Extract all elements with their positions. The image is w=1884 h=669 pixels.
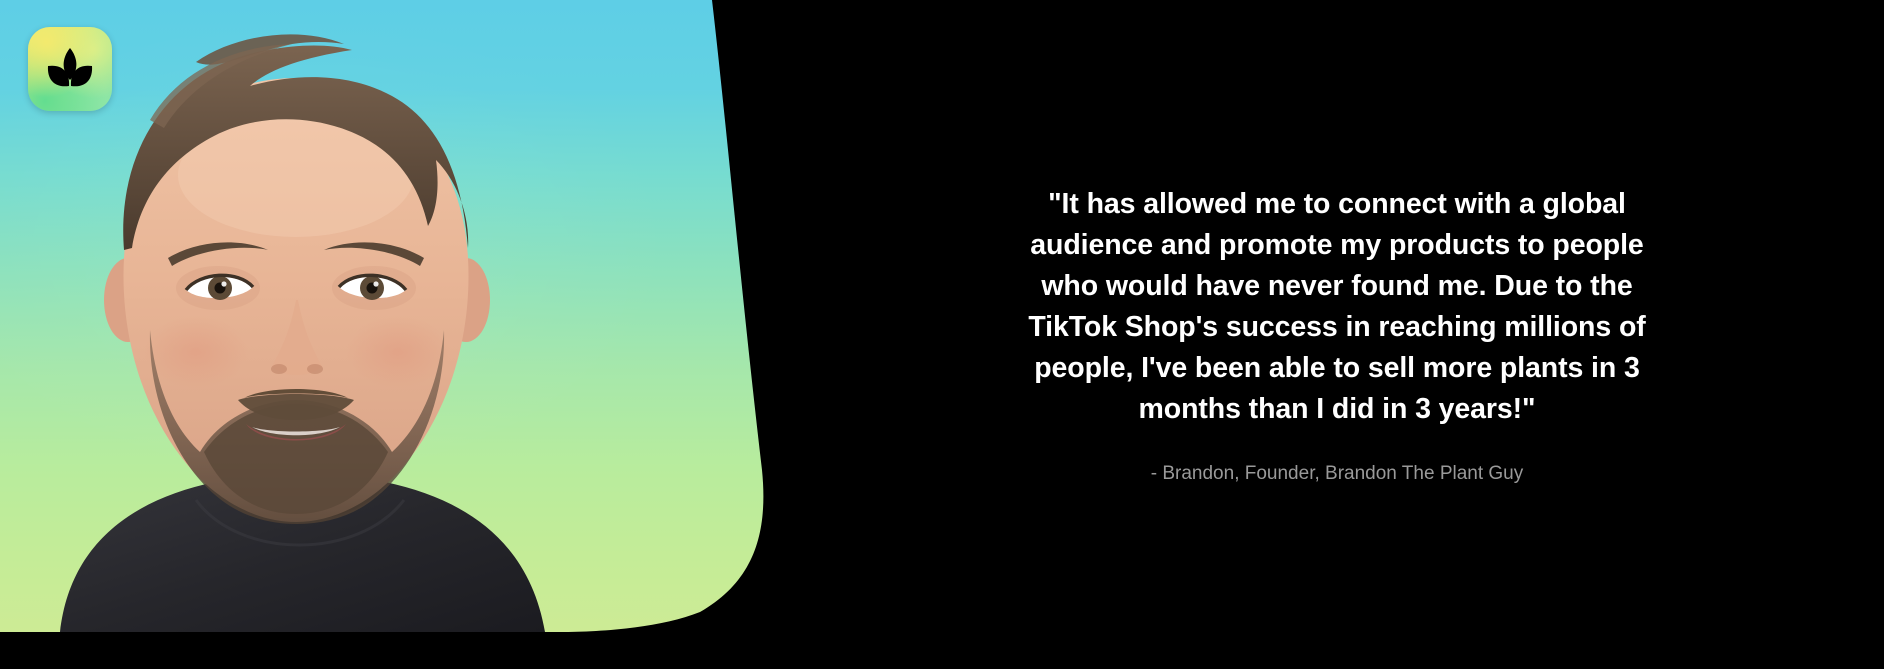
plant-three-leaf-icon (43, 42, 97, 96)
brand-logo-badge[interactable] (28, 27, 112, 111)
testimonial-quote: "It has allowed me to connect with a glo… (1027, 184, 1647, 430)
testimonial-panel: "It has allowed me to connect with a glo… (790, 0, 1884, 669)
photo-panel (0, 0, 790, 632)
portrait-image (0, 0, 790, 632)
testimonial-attribution: - Brandon, Founder, Brandon The Plant Gu… (1151, 462, 1524, 486)
testimonial-card: "It has allowed me to connect with a glo… (0, 0, 1884, 669)
